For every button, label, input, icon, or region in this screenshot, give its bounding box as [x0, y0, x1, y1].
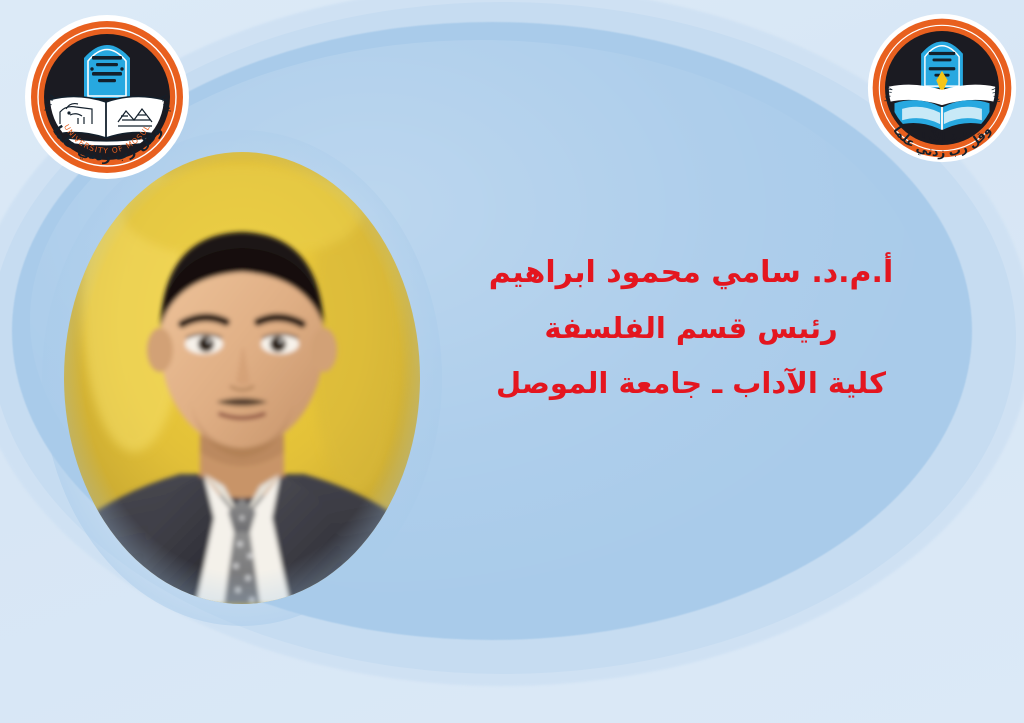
profile-card: UNIVERSITY OF MOSUL وقل رب زدني علما ١٩٦… [0, 0, 1024, 723]
portrait-photo [64, 152, 420, 604]
college-of-arts-logo-icon: كلية الآداب وقل رب زدني علما ١٩٦٧ ١٣٨٧ [866, 8, 1018, 168]
faculty-affiliation: كلية الآداب ـ جامعة الموصل [476, 369, 906, 398]
faculty-text-block: أ.م.د. سامي محمود ابراهيم رئيس قسم الفلس… [476, 258, 906, 398]
portrait-photo-frame [64, 152, 420, 604]
university-of-mosul-logo-icon: UNIVERSITY OF MOSUL وقل رب زدني علما ١٩٦… [22, 12, 192, 182]
faculty-name: أ.م.د. سامي محمود ابراهيم [476, 258, 906, 288]
faculty-position: رئيس قسم الفلسفة [476, 314, 906, 343]
